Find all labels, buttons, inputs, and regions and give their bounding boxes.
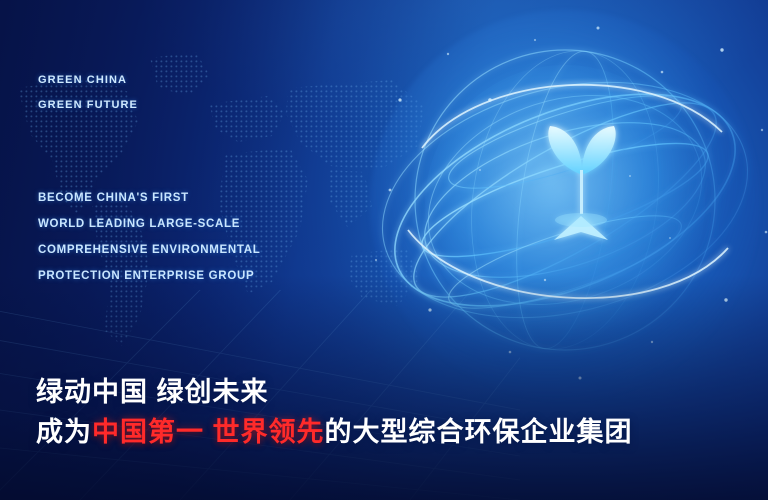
chinese-headline-line1: 绿动中国 绿创未来 xyxy=(36,372,633,412)
chinese-headline-highlight: 中国第一 世界领先 xyxy=(92,417,325,447)
english-sub-line: COMPREHENSIVE ENVIRONMENTAL xyxy=(38,237,261,263)
english-slogan-top: GREEN CHINA GREEN FUTURE xyxy=(38,68,138,118)
english-sub-line: BECOME CHINA'S FIRST xyxy=(38,185,261,211)
chinese-headline: 绿动中国 绿创未来 成为中国第一 世界领先的大型综合环保企业集团 xyxy=(36,372,633,452)
chinese-headline-suffix: 的大型综合环保企业集团 xyxy=(325,417,633,447)
english-sub-line: WORLD LEADING LARGE-SCALE xyxy=(38,211,261,237)
english-sub-line: PROTECTION ENTERPRISE GROUP xyxy=(38,263,261,289)
english-slogan-line: GREEN CHINA xyxy=(38,68,138,93)
english-slogan-line: GREEN FUTURE xyxy=(38,93,138,118)
chinese-headline-prefix: 成为 xyxy=(36,417,92,447)
chinese-headline-line2: 成为中国第一 世界领先的大型综合环保企业集团 xyxy=(36,412,633,452)
english-slogan-sub: BECOME CHINA'S FIRST WORLD LEADING LARGE… xyxy=(38,185,261,289)
hero-banner: GREEN CHINA GREEN FUTURE BECOME CHINA'S … xyxy=(0,0,768,500)
